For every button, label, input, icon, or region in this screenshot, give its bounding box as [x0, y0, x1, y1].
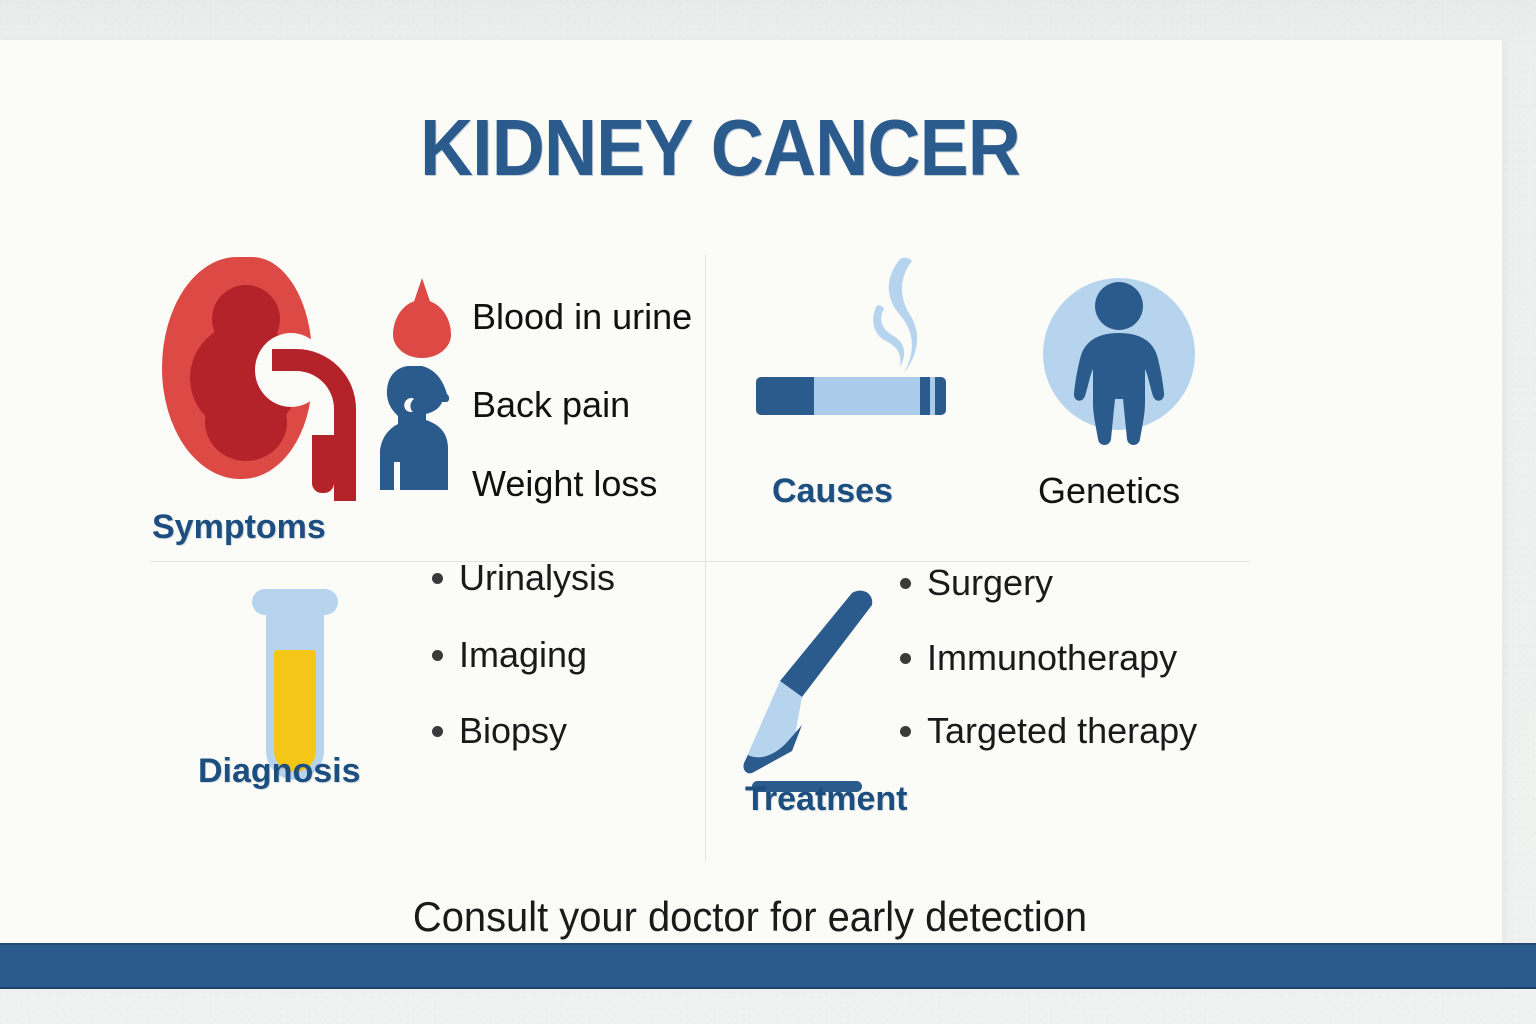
blood-drop-body [393, 300, 451, 358]
treatment-item-label: Surgery [927, 562, 1053, 604]
section-label-symptoms: Symptoms [152, 508, 326, 547]
bottom-accent-bar [0, 943, 1536, 989]
symptom-item-blood-in-urine: Blood in urine [472, 296, 692, 338]
bullet-icon [900, 653, 911, 664]
diagnosis-item-urinalysis: Urinalysis [432, 557, 615, 599]
bullet-icon [900, 578, 911, 589]
bullet-icon [432, 573, 443, 584]
obesity-person-icon [1040, 275, 1200, 455]
diagnosis-item-imaging: Imaging [432, 634, 587, 676]
blood-drop-icon [393, 278, 453, 360]
scalpel-icon [740, 585, 910, 800]
diagnosis-item-label: Imaging [459, 634, 587, 676]
diagnosis-item-label: Biopsy [459, 710, 567, 752]
cigarette-band-1 [920, 377, 930, 415]
treatment-item-label: Immunotherapy [927, 637, 1177, 679]
causes-genetics-label: Genetics [1038, 470, 1180, 512]
diagnosis-item-label: Urinalysis [459, 557, 615, 599]
section-label-diagnosis: Diagnosis [198, 752, 360, 791]
infographic-stage: KIDNEY CANCER [0, 0, 1536, 1024]
cigarette-filter [756, 377, 814, 415]
symptom-item-weight-loss: Weight loss [472, 463, 657, 505]
footer-note: Consult your doctor for early detection [38, 893, 1463, 941]
person-bust-icon [378, 362, 466, 490]
infographic-card: KIDNEY CANCER [0, 40, 1502, 985]
treatment-item-label: Targeted therapy [927, 710, 1197, 752]
treatment-item-immunotherapy: Immunotherapy [900, 637, 1177, 679]
bullet-icon [432, 650, 443, 661]
treatment-item-surgery: Surgery [900, 562, 1053, 604]
symptom-item-back-pain: Back pain [472, 384, 630, 426]
divider-horizontal [150, 561, 1250, 562]
test-tube-rim [252, 589, 338, 615]
divider-vertical [705, 255, 706, 862]
section-label-treatment: Treatment [745, 780, 908, 819]
kidney-ureter-tail [312, 435, 334, 493]
diagnosis-item-biopsy: Biopsy [432, 710, 567, 752]
treatment-item-targeted-therapy: Targeted therapy [900, 710, 1197, 752]
cigarette-icon [750, 265, 970, 435]
section-label-causes: Causes [772, 472, 893, 511]
cigarette-band-2 [935, 377, 946, 415]
kidney-icon [160, 255, 360, 485]
bullet-icon [900, 726, 911, 737]
bullet-icon [432, 726, 443, 737]
page-title: KIDNEY CANCER [58, 108, 1383, 188]
